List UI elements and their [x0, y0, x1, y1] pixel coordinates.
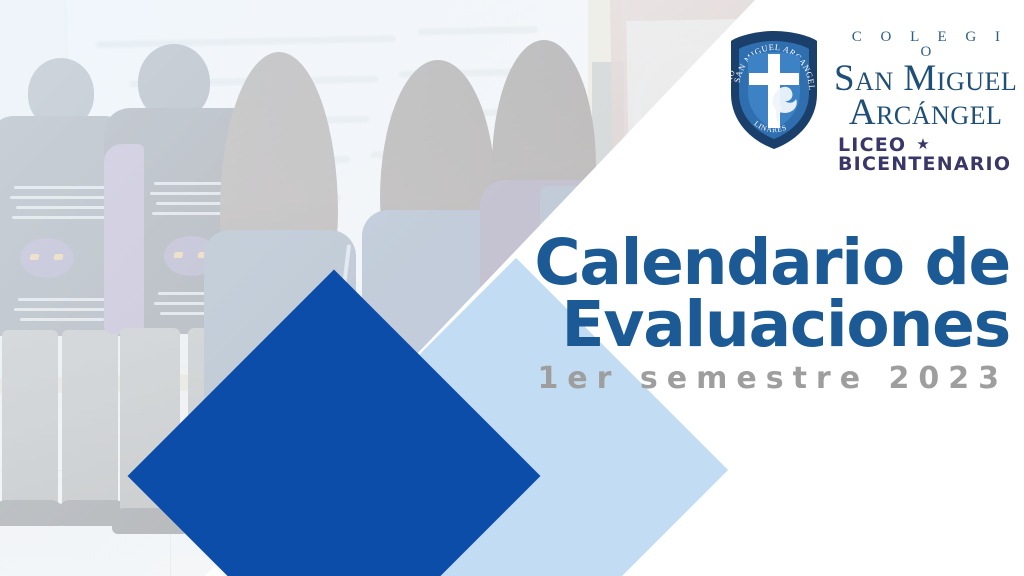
- page-title: Calendario de Evaluaciones: [450, 232, 1010, 355]
- logo-subbrand-line2: BICENTENARIO: [838, 155, 1017, 174]
- slide-canvas: SAN MIGUEL ARCANGEL COLEGIO LINARES C O …: [0, 0, 1024, 576]
- logo-subbrand: LICEO★ BICENTENARIO: [834, 136, 1017, 175]
- shield-crest-icon: SAN MIGUEL ARCANGEL COLEGIO LINARES: [722, 28, 826, 152]
- page-subtitle: 1er semestre 2023: [450, 361, 1010, 396]
- school-logo[interactable]: SAN MIGUEL ARCANGEL COLEGIO LINARES C O …: [722, 28, 1012, 160]
- logo-wordmark: C O L E G I O San Miguel Arcángel LICEO★…: [834, 28, 1017, 175]
- logo-eyebrow: C O L E G I O: [834, 30, 1017, 60]
- star-icon: ★: [906, 135, 931, 153]
- logo-name-line2: Arcángel: [834, 96, 1017, 130]
- logo-name: San Miguel Arcángel: [834, 62, 1017, 131]
- headline-block: Calendario de Evaluaciones 1er semestre …: [450, 232, 1010, 396]
- page-title-line2: Evaluaciones: [450, 294, 1010, 356]
